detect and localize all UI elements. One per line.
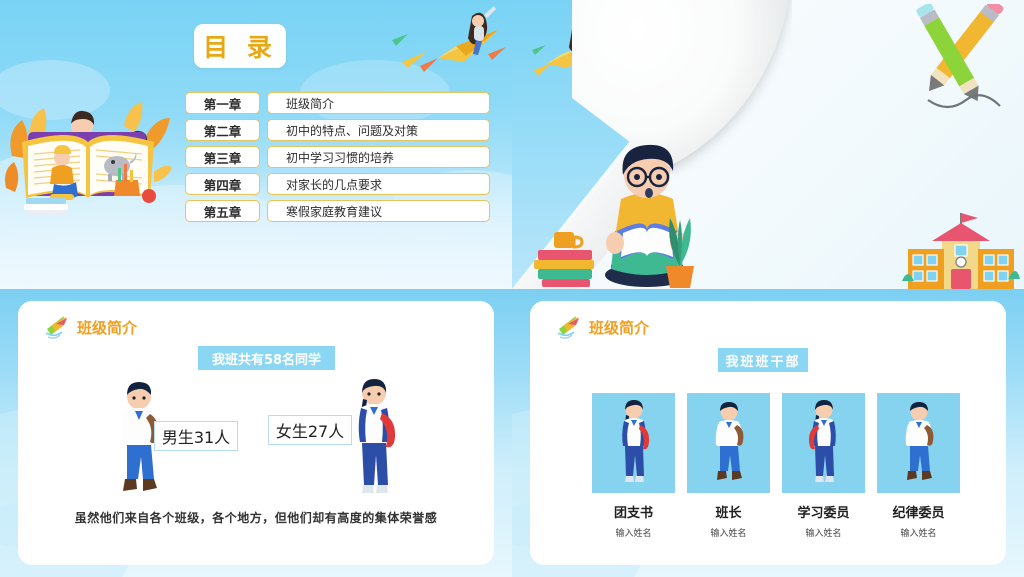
slide-class-cadres[interactable]: 班级简介 我班班干部	[512, 289, 1024, 577]
toc-chapter-text: 初中学习习惯的培养	[267, 146, 490, 168]
cadre-item[interactable]: 团支书 输入姓名	[592, 393, 675, 539]
card-header: 班级简介	[556, 315, 649, 339]
cadre-name-placeholder[interactable]: 输入姓名	[782, 526, 865, 539]
toc-chapter-text: 班级简介	[267, 92, 490, 114]
slide-class-overview[interactable]: 班级简介 我班共有58名同学	[0, 289, 512, 577]
potted-plant-icon	[658, 210, 702, 289]
toc-chapter-label: 第二章	[185, 119, 260, 141]
cadre-photo	[877, 393, 960, 493]
cadre-name-placeholder[interactable]: 输入姓名	[592, 526, 675, 539]
slide-chapter-cover[interactable]: 第一章 班 级 简 介 202X年实验中学初中期末家长会	[512, 0, 1024, 289]
girl-count-box: 女生27人	[268, 415, 352, 445]
cadre-item[interactable]: 纪律委员 输入姓名	[877, 393, 960, 539]
toc-chapter-label: 第五章	[185, 200, 260, 222]
cadres-banner: 我班班干部	[718, 348, 808, 372]
toc-row[interactable]: 第四章 对家长的几点要求	[185, 173, 490, 195]
card-header-title: 班级简介	[589, 317, 649, 338]
toc-chapter-text: 寒假家庭教育建议	[267, 200, 490, 222]
open-book-illustration-icon	[4, 96, 172, 226]
class-caption: 虽然他们来自各个班级，各个地方，但他们却有高度的集体荣誉感	[18, 509, 494, 526]
toc-chapter-label: 第四章	[185, 173, 260, 195]
toc-list: 第一章 班级简介 第二章 初中的特点、问题及对策 第三章 初中学习习惯的培养 第…	[185, 92, 490, 227]
cadre-photo	[592, 393, 675, 493]
girl-student-illustration	[614, 399, 654, 487]
cadre-name-placeholder[interactable]: 输入姓名	[877, 526, 960, 539]
cadre-photo	[782, 393, 865, 493]
boy-student-illustration	[898, 401, 940, 487]
slide-table-of-contents[interactable]: 目 录 第一章 班级简介 第二章 初中的特点、问题及对策 第三章 初中学习习惯的…	[0, 0, 512, 289]
toc-chapter-label: 第三章	[185, 146, 260, 168]
swoosh-ribbon-icon	[44, 315, 70, 339]
cadre-role: 班长	[687, 502, 770, 521]
cadre-name-placeholder[interactable]: 输入姓名	[687, 526, 770, 539]
class-total-banner: 我班共有58名同学	[198, 346, 335, 370]
card-header: 班级简介	[44, 315, 137, 339]
page-title-text: 目 录	[203, 28, 277, 64]
cadre-role: 学习委员	[782, 502, 865, 521]
toc-row[interactable]: 第二章 初中的特点、问题及对策	[185, 119, 490, 141]
girl-student-illustration	[804, 399, 844, 487]
girl-student-illustration	[346, 377, 402, 505]
toc-row[interactable]: 第三章 初中学习习惯的培养	[185, 146, 490, 168]
swoosh-ribbon-icon	[556, 315, 582, 339]
toc-row[interactable]: 第一章 班级简介	[185, 92, 490, 114]
content-card: 班级简介 我班共有58名同学	[18, 301, 494, 565]
boy-student-illustration	[708, 401, 750, 487]
boy-count-box: 男生31人	[154, 421, 238, 451]
cadre-item[interactable]: 班长 输入姓名	[687, 393, 770, 539]
toc-chapter-label: 第一章	[185, 92, 260, 114]
cadre-role: 团支书	[592, 502, 675, 521]
slide-deck: 目 录 第一章 班级简介 第二章 初中的特点、问题及对策 第三章 初中学习习惯的…	[0, 0, 1024, 577]
cadre-list: 团支书 输入姓名	[592, 393, 960, 539]
card-header-title: 班级简介	[77, 317, 137, 338]
cadre-photo	[687, 393, 770, 493]
cadre-role: 纪律委员	[877, 502, 960, 521]
content-card: 班级简介 我班班干部	[530, 301, 1006, 565]
cadre-item[interactable]: 学习委员 输入姓名	[782, 393, 865, 539]
toc-chapter-text: 初中的特点、问题及对策	[267, 119, 490, 141]
stacked-books-icon	[530, 226, 600, 288]
toc-row[interactable]: 第五章 寒假家庭教育建议	[185, 200, 490, 222]
girl-on-paper-plane-icon	[392, 0, 512, 80]
pencils-icon	[896, 4, 1016, 119]
school-building-icon	[902, 211, 1020, 289]
toc-chapter-text: 对家长的几点要求	[267, 173, 490, 195]
page-title: 目 录	[194, 24, 286, 68]
